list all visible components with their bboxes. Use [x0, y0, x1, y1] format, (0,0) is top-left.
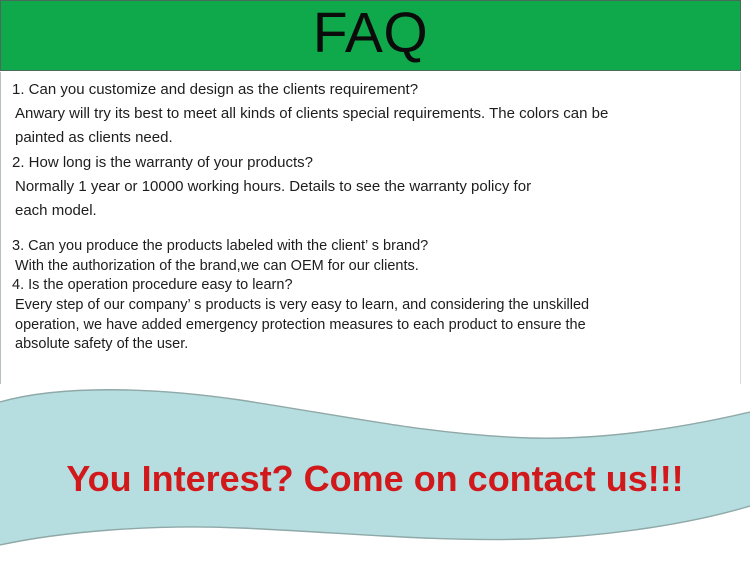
page-title: FAQ	[313, 5, 429, 62]
faq-line: painted as clients need.	[1, 126, 740, 150]
faq-line: Anwary will try its best to meet all kin…	[1, 102, 740, 126]
faq-line: each model.	[1, 199, 740, 223]
faq-line: operation, we have added emergency prote…	[1, 316, 740, 336]
faq-line: With the authorization of the brand,we c…	[1, 257, 740, 277]
faq-block-one: 1. Can you customize and design as the c…	[1, 72, 740, 223]
faq-line: 1. Can you customize and design as the c…	[1, 78, 740, 102]
faq-line: 3. Can you produce the products labeled …	[1, 237, 740, 257]
faq-block-two: 3. Can you produce the products labeled …	[1, 223, 740, 355]
faq-header-banner: FAQ	[0, 0, 741, 71]
contact-cta-text: You Interest? Come on contact us!!!	[0, 458, 750, 500]
faq-line: absolute safety of the user.	[1, 335, 740, 355]
faq-line: Every step of our company’ s products is…	[1, 296, 740, 316]
faq-page: FAQ 1. Can you customize and design as t…	[0, 0, 750, 563]
faq-line: 2. How long is the warranty of your prod…	[1, 151, 740, 175]
faq-line: Normally 1 year or 10000 working hours. …	[1, 175, 740, 199]
faq-line: 4. Is the operation procedure easy to le…	[1, 276, 740, 296]
faq-content: 1. Can you customize and design as the c…	[0, 72, 741, 384]
